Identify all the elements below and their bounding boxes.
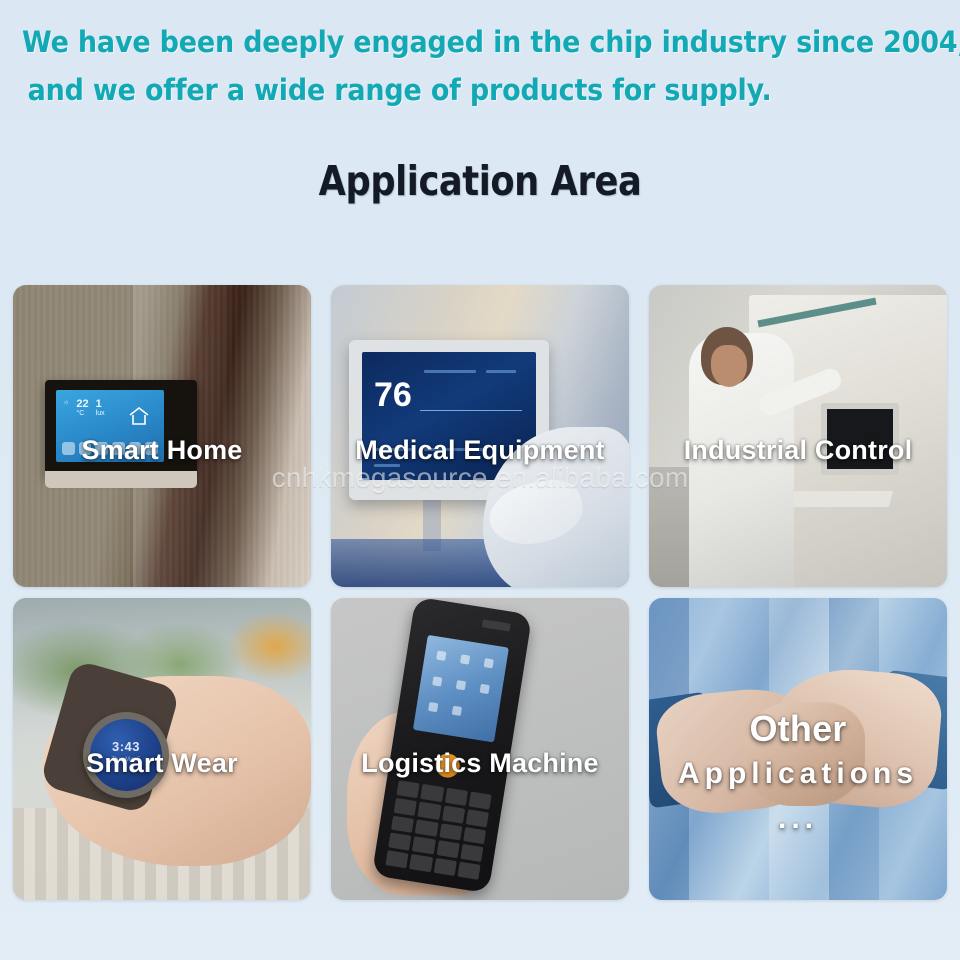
control-icon-camera xyxy=(112,442,125,455)
control-terminal-monitor xyxy=(821,403,899,475)
screen-bar-1 xyxy=(424,370,476,373)
application-card-industrial-control[interactable]: Industrial Control xyxy=(649,285,947,587)
scan-trigger-button[interactable] xyxy=(434,752,461,779)
house-icon xyxy=(126,404,152,428)
medical-equipment-art: 76 xyxy=(331,285,629,587)
smart-panel-base xyxy=(45,471,197,488)
other-applications-art xyxy=(649,598,947,900)
watch-time: 3:43 xyxy=(90,739,162,754)
control-icon-media xyxy=(129,442,142,455)
panel-sun-icon: ☼ xyxy=(63,399,69,406)
logistics-machine-art xyxy=(331,598,629,900)
application-grid: ☼ 22°C 1lux xyxy=(13,285,947,900)
panel-control-icons xyxy=(62,440,158,456)
control-terminal-keyboard xyxy=(779,491,894,507)
technician-face xyxy=(711,345,747,387)
screen-bar-5 xyxy=(374,464,400,467)
ecg-waveform xyxy=(420,410,522,411)
device-keypad[interactable] xyxy=(385,780,491,880)
screen-bar-2 xyxy=(486,370,516,373)
control-icon-ac xyxy=(145,442,158,455)
handshake-grip xyxy=(745,702,865,806)
smart-panel-screen: ☼ 22°C 1lux xyxy=(56,390,164,462)
application-card-smart-wear[interactable]: 3:43 Thu, Mar 5 Smart Wear xyxy=(13,598,311,900)
screen-app-icon-2 xyxy=(460,654,470,664)
application-card-smart-home[interactable]: ☼ 22°C 1lux xyxy=(13,285,311,587)
application-card-other-applications[interactable]: Other Applications ... xyxy=(649,598,947,900)
headline-block: We have been deeply engaged in the chip … xyxy=(0,18,960,114)
control-icon-light xyxy=(62,442,75,455)
industrial-control-art xyxy=(649,285,947,587)
smartwatch-face: 3:43 Thu, Mar 5 xyxy=(90,719,162,791)
panel-temp: 22°C xyxy=(76,399,88,417)
control-icon-fan xyxy=(79,442,92,455)
application-card-medical-equipment[interactable]: 76 Medical Equipment xyxy=(331,285,629,587)
handheld-terminal-device xyxy=(372,598,533,893)
screen-app-icon-4 xyxy=(432,676,442,686)
device-speaker xyxy=(482,619,511,631)
smart-home-art: ☼ 22°C 1lux xyxy=(13,285,311,587)
handheld-terminal-screen xyxy=(413,635,509,743)
control-icon-lock xyxy=(95,442,108,455)
screen-app-icon-8 xyxy=(452,706,462,716)
application-area-banner: We have been deeply engaged in the chip … xyxy=(0,0,960,960)
smart-wear-art: 3:43 Thu, Mar 5 xyxy=(13,598,311,900)
smartwatch-device: 3:43 Thu, Mar 5 xyxy=(83,712,169,798)
application-card-logistics-machine[interactable]: Logistics Machine xyxy=(331,598,629,900)
vital-sign-value: 76 xyxy=(374,378,412,412)
screen-bar-4 xyxy=(424,448,484,451)
smart-panel-device: ☼ 22°C 1lux xyxy=(45,380,197,476)
watch-date: Thu, Mar 5 xyxy=(90,757,162,763)
panel-value: 1lux xyxy=(96,399,105,417)
screen-app-icon-5 xyxy=(456,680,466,690)
headline-line-2: and we offer a wide range of products fo… xyxy=(22,66,874,114)
screen-app-icon-7 xyxy=(428,702,438,712)
screen-app-icon-6 xyxy=(480,684,490,694)
headline-line-1: We have been deeply engaged in the chip … xyxy=(22,18,874,66)
panel-readout: ☼ 22°C 1lux xyxy=(63,399,105,417)
screen-app-icon-3 xyxy=(484,658,494,668)
screen-bar-3 xyxy=(374,448,414,451)
screen-app-icon-1 xyxy=(436,651,446,661)
section-title: Application Area xyxy=(67,155,893,207)
